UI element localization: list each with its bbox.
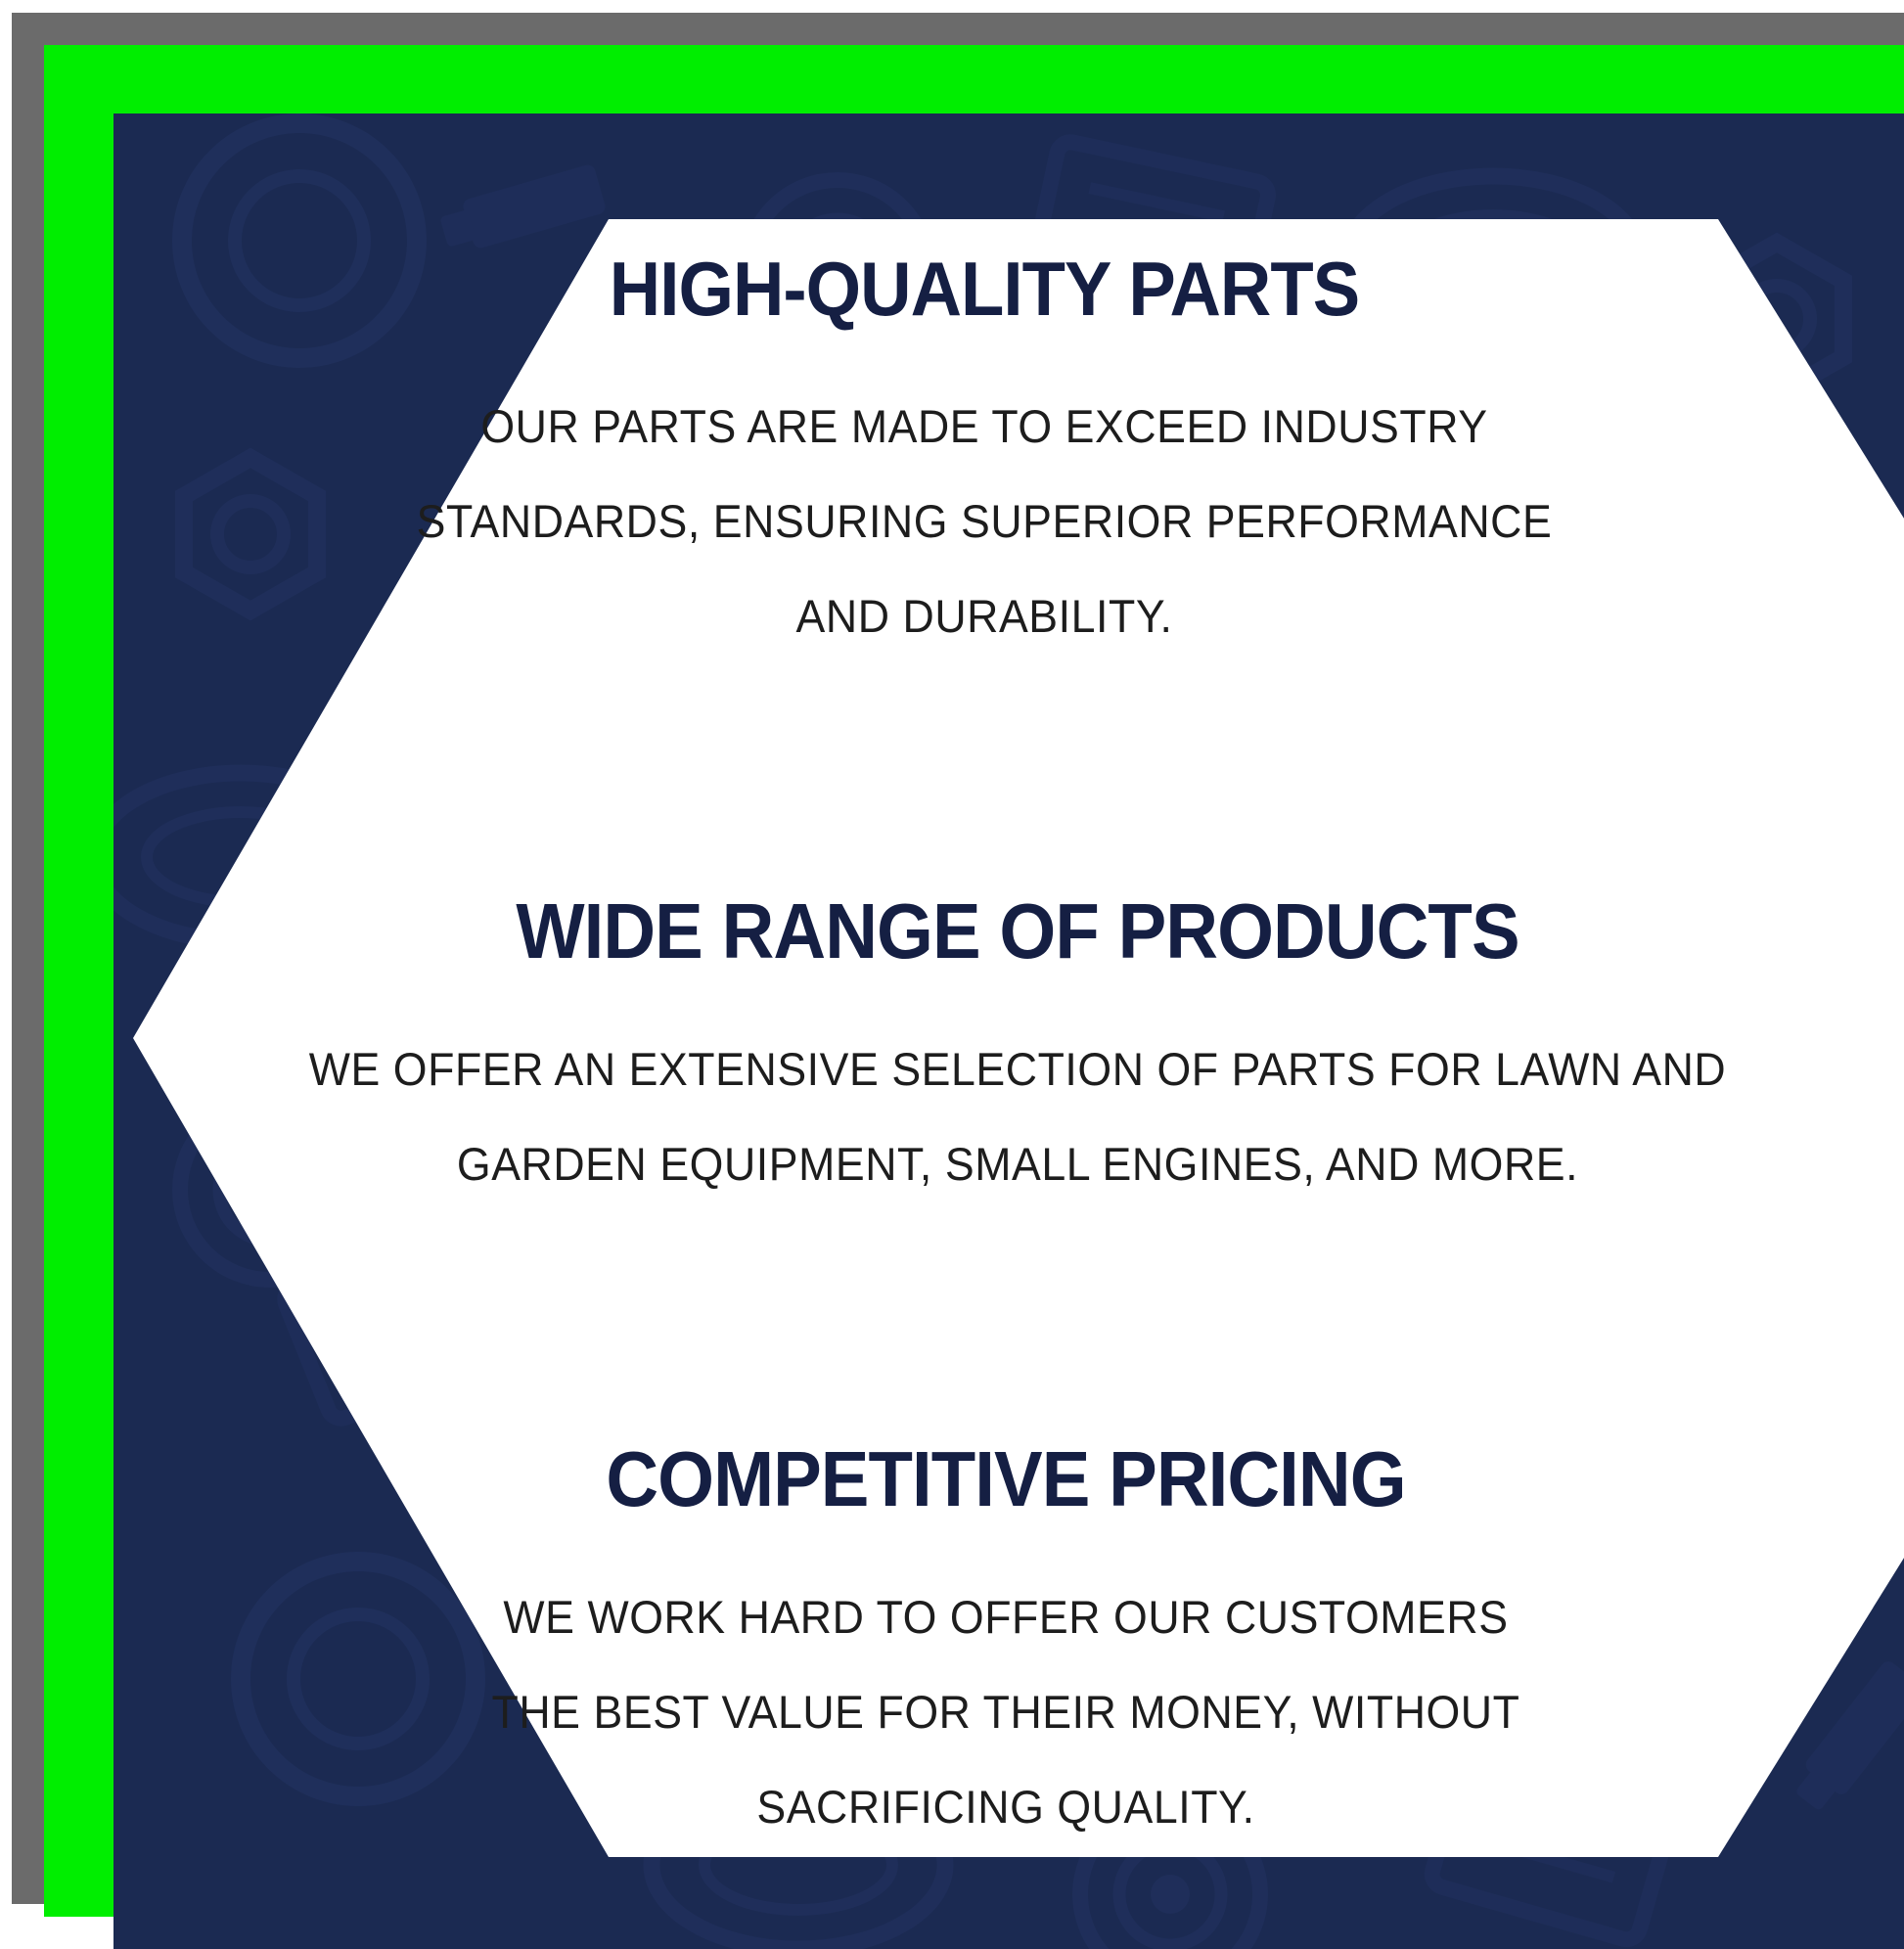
- page-frame-white: HIGH-QUALITY PARTS OUR PARTS ARE MADE TO…: [0, 0, 1904, 1904]
- hexagon-content: HIGH-QUALITY PARTS OUR PARTS ARE MADE TO…: [133, 219, 1836, 1857]
- section-heading-0: HIGH-QUALITY PARTS: [193, 250, 1776, 329]
- feature-section-competitive-pricing: COMPETITIVE PRICING WE WORK HARD TO OFFE…: [133, 1439, 1857, 1836]
- section-body-line-0-0: OUR PARTS ARE MADE TO EXCEED INDUSTRY: [176, 403, 1793, 449]
- section-body-line-2-1: THE BEST VALUE FOR THEIR MONEY, WITHOUT: [198, 1689, 1815, 1735]
- section-heading-2: COMPETITIVE PRICING: [214, 1439, 1797, 1519]
- poster-canvas: HIGH-QUALITY PARTS OUR PARTS ARE MADE TO…: [113, 113, 1904, 1949]
- feature-section-wide-range-of-products: WIDE RANGE OF PRODUCTS WE OFFER AN EXTEN…: [133, 891, 1869, 1187]
- section-body-line-1-1: GARDEN EQUIPMENT, SMALL ENGINES, AND MOR…: [209, 1141, 1827, 1187]
- page-frame-gray-border: HIGH-QUALITY PARTS OUR PARTS ARE MADE TO…: [12, 13, 1904, 1904]
- page-frame-green-border: HIGH-QUALITY PARTS OUR PARTS ARE MADE TO…: [44, 45, 1904, 1917]
- section-heading-1: WIDE RANGE OF PRODUCTS: [226, 891, 1809, 972]
- feature-section-high-quality-parts: HIGH-QUALITY PARTS OUR PARTS ARE MADE TO…: [133, 245, 1836, 639]
- section-body-line-0-1: STANDARDS, ENSURING SUPERIOR PERFORMANCE: [176, 498, 1793, 544]
- section-body-line-1-0: WE OFFER AN EXTENSIVE SELECTION OF PARTS…: [209, 1046, 1827, 1092]
- section-body-line-2-0: WE WORK HARD TO OFFER OUR CUSTOMERS: [198, 1594, 1815, 1640]
- section-body-line-0-2: AND DURABILITY.: [176, 593, 1793, 639]
- section-body-line-2-2: SACRIFICING QUALITY.: [198, 1784, 1815, 1830]
